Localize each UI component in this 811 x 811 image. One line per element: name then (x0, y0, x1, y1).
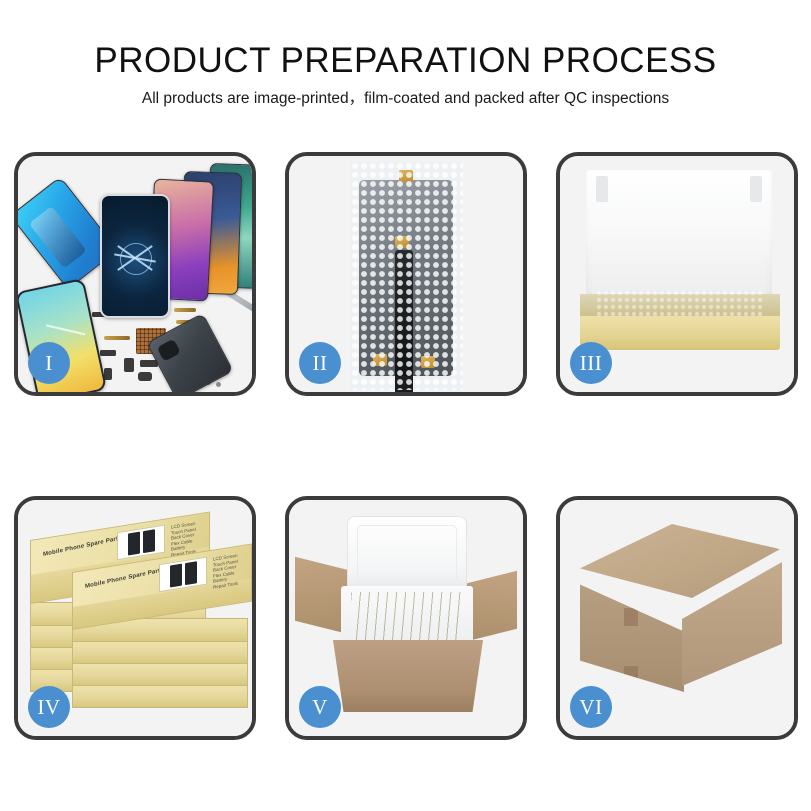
step-6-illustration: VI (560, 500, 794, 736)
step-badge-6: VI (570, 686, 612, 728)
step-3-illustration: III (560, 156, 794, 392)
gold-box-right-5 (72, 684, 248, 708)
step-badge-4: IV (28, 686, 70, 728)
step-panel-3: III (556, 152, 798, 396)
step-panel-2: II (285, 152, 527, 396)
gold-boxes-inside-icon (351, 592, 463, 640)
step-panel-1: I (14, 152, 256, 396)
box-spec-lines-2: LCD ScreenTouch PanelBack CoverFlex Cabl… (213, 553, 238, 590)
tempered-glass-panel-icon (100, 194, 170, 318)
step-4-illustration: Mobile Phone Spare Parts LCD ScreenTouch… (18, 500, 252, 736)
carton-left-face (580, 580, 684, 692)
bubble-wrap-bag-icon (351, 162, 463, 390)
steps-grid: I II (14, 152, 798, 740)
gold-box-front-icon (580, 316, 780, 350)
bubble-texture (351, 162, 463, 390)
step-badge-5: V (299, 686, 341, 728)
box-window-1 (117, 525, 165, 561)
step-badge-3: III (570, 342, 612, 384)
page-title: PRODUCT PREPARATION PROCESS (0, 40, 811, 82)
step-panel-6: VI (556, 496, 798, 740)
gold-box-right-3 (72, 640, 248, 664)
step-1-illustration: I (18, 156, 252, 392)
step-2-illustration: II (289, 156, 523, 392)
page-subtitle: All products are image-printed，film-coat… (0, 89, 811, 109)
carton-body-icon (333, 640, 483, 712)
bubble-wrapped-contents-icon (596, 290, 762, 318)
foam-cooler-lid-icon (347, 516, 467, 594)
header: PRODUCT PREPARATION PROCESS All products… (0, 40, 811, 109)
box-window-2 (159, 557, 207, 593)
step-badge-1: I (28, 342, 70, 384)
foam-liner-icon (592, 216, 766, 300)
step-panel-5: V (285, 496, 527, 740)
step-5-illustration: V (289, 500, 523, 736)
step-panel-4: Mobile Phone Spare Parts LCD ScreenTouch… (14, 496, 256, 740)
product-preparation-infographic: PRODUCT PREPARATION PROCESS All products… (0, 0, 811, 811)
step-badge-2: II (299, 342, 341, 384)
gold-box-right-4 (72, 662, 248, 686)
